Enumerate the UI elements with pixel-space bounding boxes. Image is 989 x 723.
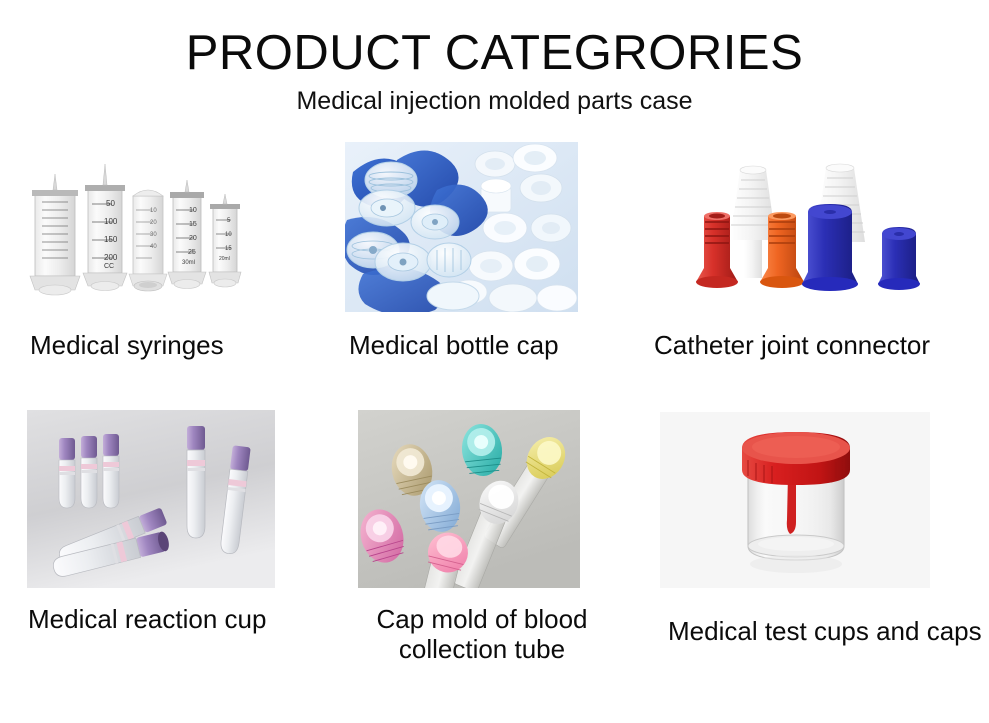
svg-text:CC: CC [104,263,114,270]
svg-text:10: 10 [189,207,197,214]
page-subtitle: Medical injection molded parts case [0,85,989,117]
svg-text:10: 10 [225,232,232,238]
product-categories-page: PRODUCT CATEGRORIES Medical injection mo… [0,0,989,723]
product-card-syringes[interactable]: 50 100 150 200 CC [0,132,330,382]
product-caption-testcup: Medical test cups and caps [668,616,982,646]
medical-reaction-cup-photo[interactable] [27,410,275,588]
svg-text:20ml: 20ml [219,256,230,262]
svg-text:200: 200 [104,253,118,262]
svg-text:50: 50 [106,199,115,208]
medical-test-cups-and-caps-photo[interactable] [660,412,930,588]
medical-bottle-cap-photo[interactable] [345,142,578,312]
product-caption-catheter: Catheter joint connector [654,330,930,360]
svg-text:40: 40 [150,244,157,250]
product-caption-syringes: Medical syringes [30,330,224,360]
product-caption-bottlecap: Medical bottle cap [349,330,559,360]
product-card-bottlecap[interactable]: Medical bottle cap [330,132,660,382]
svg-text:30ml: 30ml [182,260,195,266]
svg-text:30: 30 [150,232,157,238]
svg-text:10: 10 [150,208,157,214]
product-card-catheter[interactable]: Catheter joint connector [660,132,989,382]
product-caption-capmold: Cap mold of blood collection tube [367,604,597,664]
page-title: PRODUCT CATEGRORIES [0,24,989,82]
svg-text:20: 20 [150,220,157,226]
svg-text:15: 15 [189,221,197,228]
product-caption-reaction: Medical reaction cup [28,604,266,634]
svg-text:150: 150 [104,235,118,244]
product-card-capmold[interactable]: Cap mold of blood collection tube [330,394,660,692]
svg-text:25: 25 [188,249,196,256]
medical-syringes-photo[interactable]: 50 100 150 200 CC [22,154,278,306]
product-card-testcup[interactable]: Medical test cups and caps [660,394,989,692]
cap-mold-blood-collection-tube-photo[interactable] [358,410,580,588]
product-card-reaction[interactable]: Medical reaction cup [0,394,330,692]
svg-text:20: 20 [189,235,197,242]
product-grid: 50 100 150 200 CC [0,132,989,692]
svg-text:100: 100 [104,217,118,226]
catheter-joint-connector-photo[interactable] [678,154,966,309]
svg-text:15: 15 [225,246,232,252]
